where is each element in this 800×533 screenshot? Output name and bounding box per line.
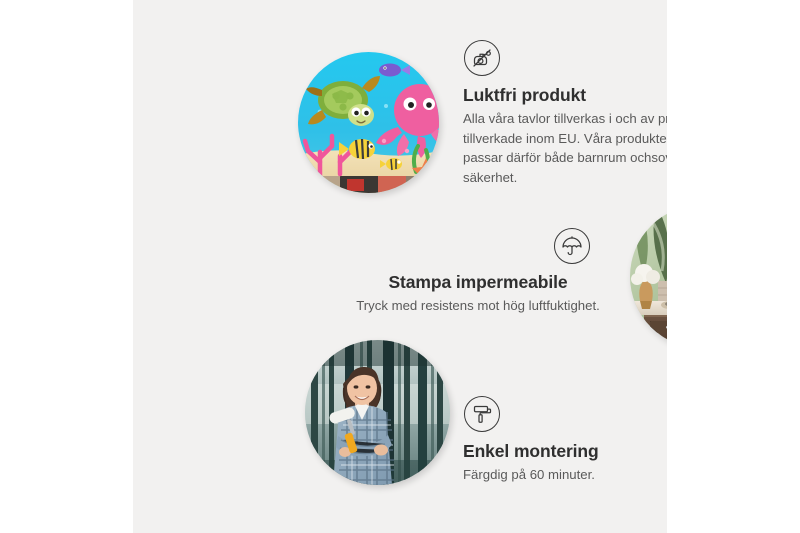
- page-root: Luktfri produkt Alla våra tavlor tillver…: [0, 0, 800, 533]
- feature-body: Färgdig på 60 minuter.: [463, 465, 667, 485]
- feature-body: Alla våra tavlor tillverkas i och av pro…: [463, 109, 667, 187]
- bathroom-vanity-artwork: [630, 205, 667, 348]
- feature-odour-free: Luktfri produkt Alla våra tavlor tillver…: [463, 40, 667, 187]
- feature-waterproof-print: Stampa impermeabile Tryck med resistens …: [338, 228, 618, 316]
- paint-roller-icon: [464, 396, 500, 432]
- feature-title: Stampa impermeabile: [338, 272, 618, 293]
- feature-body: Tryck med resistens mot hög luftfuktighe…: [338, 296, 618, 316]
- ocean-cartoon-photo: [298, 52, 439, 193]
- painter-forest-artwork: [305, 340, 450, 485]
- feature-icon-row: [338, 228, 618, 264]
- feature-title: Enkel montering: [463, 441, 667, 462]
- no-odour-perfume-bottle-icon: [464, 40, 500, 76]
- umbrella-icon: [554, 228, 590, 264]
- painter-forest-photo: [305, 340, 450, 485]
- bathroom-vanity-photo: [630, 205, 667, 348]
- feature-easy-assembly: Enkel montering Färgdig på 60 minuter.: [463, 396, 667, 485]
- feature-title: Luktfri produkt: [463, 85, 667, 106]
- ocean-cartoon-artwork: [298, 52, 439, 193]
- content-panel: Luktfri produkt Alla våra tavlor tillver…: [133, 0, 667, 533]
